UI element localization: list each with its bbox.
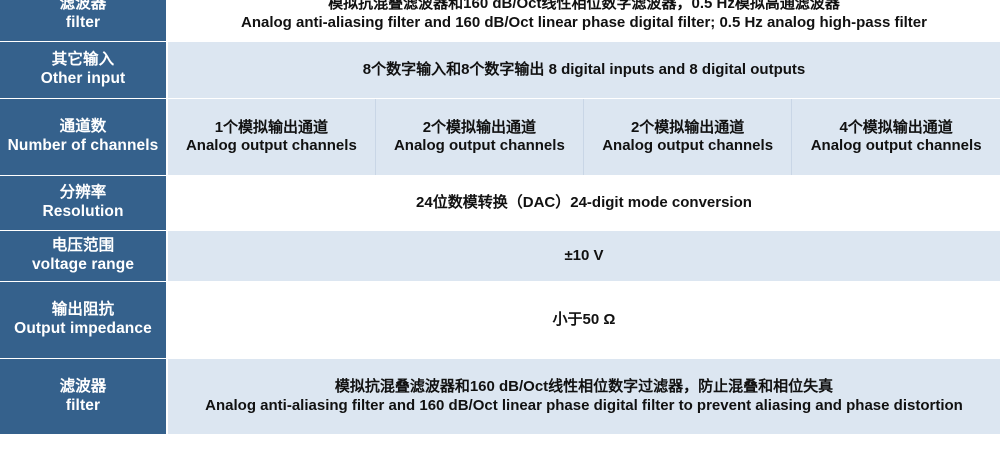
channel-cn: 1个模拟输出通道: [168, 119, 375, 137]
channel-column-2: 2个模拟输出通道 Analog output channels: [375, 99, 583, 176]
row-label-other-input: 其它输入 Other input: [0, 42, 167, 99]
row-label-resolution: 分辨率 Resolution: [0, 176, 167, 231]
row-label-en: filter: [0, 397, 166, 416]
row-value-text: 24位数模转换（DAC）24-digit mode conversion: [168, 194, 1000, 213]
row-value-text: 小于50 Ω: [168, 311, 1000, 330]
row-value-filter-bottom: 模拟抗混叠滤波器和160 dB/Oct线性相位数字过滤器，防止混叠和相位失真 A…: [167, 359, 1000, 435]
row-label-output-impedance: 输出阻抗 Output impedance: [0, 282, 167, 359]
channel-en: Analog output channels: [376, 137, 583, 155]
row-value-text: 8个数字输入和8个数字输出 8 digital inputs and 8 dig…: [168, 61, 1000, 80]
output-specifications-table: 滤波器 filter 模拟抗混叠滤波器和160 dB/Oct线性相位数字滤波器，…: [0, 0, 1000, 435]
row-label-en: filter: [0, 14, 166, 33]
row-value-resolution: 24位数模转换（DAC）24-digit mode conversion: [167, 176, 1000, 231]
row-label-filter-top: 滤波器 filter: [0, 0, 167, 42]
row-value-filter-top: 模拟抗混叠滤波器和160 dB/Oct线性相位数字滤波器，0.5 Hz模拟高通滤…: [167, 0, 1000, 42]
channel-column-1: 1个模拟输出通道 Analog output channels: [167, 99, 375, 176]
row-label-cn: 其它输入: [0, 51, 166, 70]
channel-en: Analog output channels: [584, 137, 791, 155]
row-label-en: Number of channels: [0, 137, 166, 156]
row-label-en: Output impedance: [0, 320, 166, 339]
channel-cn: 2个模拟输出通道: [376, 119, 583, 137]
row-value-other-input: 8个数字输入和8个数字输出 8 digital inputs and 8 dig…: [167, 42, 1000, 99]
channel-cn: 4个模拟输出通道: [792, 119, 1000, 137]
page-bottom-margin: [0, 449, 1000, 463]
row-label-filter-bottom: 滤波器 filter: [0, 359, 167, 435]
row-value-en: Analog anti-aliasing filter and 160 dB/O…: [168, 14, 1000, 33]
row-label-cn: 滤波器: [0, 0, 166, 14]
row-label-en: Resolution: [0, 203, 166, 222]
row-label-number-of-channels: 通道数 Number of channels: [0, 99, 167, 176]
table-row: 通道数 Number of channels 1个模拟输出通道 Analog o…: [0, 99, 1000, 176]
row-value-voltage-range: ±10 V: [167, 231, 1000, 282]
table-row: 分辨率 Resolution 24位数模转换（DAC）24-digit mode…: [0, 176, 1000, 231]
channel-column-4: 4个模拟输出通道 Analog output channels: [792, 99, 1000, 176]
row-label-voltage-range: 电压范围 voltage range: [0, 231, 167, 282]
row-label-cn: 分辨率: [0, 184, 166, 203]
table-row: 输出阻抗 Output impedance 小于50 Ω: [0, 282, 1000, 359]
channel-cn: 2个模拟输出通道: [584, 119, 791, 137]
row-label-cn: 滤波器: [0, 378, 166, 397]
spec-table-container: 滤波器 filter 模拟抗混叠滤波器和160 dB/Oct线性相位数字滤波器，…: [0, 0, 1000, 463]
row-value-text: ±10 V: [168, 247, 1000, 266]
row-value-en: Analog anti-aliasing filter and 160 dB/O…: [168, 397, 1000, 416]
row-label-cn: 通道数: [0, 118, 166, 137]
row-value-cn: 模拟抗混叠滤波器和160 dB/Oct线性相位数字滤波器，0.5 Hz模拟高通滤…: [168, 0, 1000, 14]
channel-en: Analog output channels: [168, 137, 375, 155]
row-value-output-impedance: 小于50 Ω: [167, 282, 1000, 359]
table-row: 其它输入 Other input 8个数字输入和8个数字输出 8 digital…: [0, 42, 1000, 99]
row-label-cn: 电压范围: [0, 237, 166, 256]
channel-column-3: 2个模拟输出通道 Analog output channels: [584, 99, 792, 176]
row-label-cn: 输出阻抗: [0, 301, 166, 320]
channel-en: Analog output channels: [792, 137, 1000, 155]
row-label-en: voltage range: [0, 256, 166, 275]
table-row: 滤波器 filter 模拟抗混叠滤波器和160 dB/Oct线性相位数字过滤器，…: [0, 359, 1000, 435]
row-value-cn: 模拟抗混叠滤波器和160 dB/Oct线性相位数字过滤器，防止混叠和相位失真: [168, 378, 1000, 397]
table-row: 滤波器 filter 模拟抗混叠滤波器和160 dB/Oct线性相位数字滤波器，…: [0, 0, 1000, 42]
table-row: 电压范围 voltage range ±10 V: [0, 231, 1000, 282]
row-label-en: Other input: [0, 70, 166, 89]
